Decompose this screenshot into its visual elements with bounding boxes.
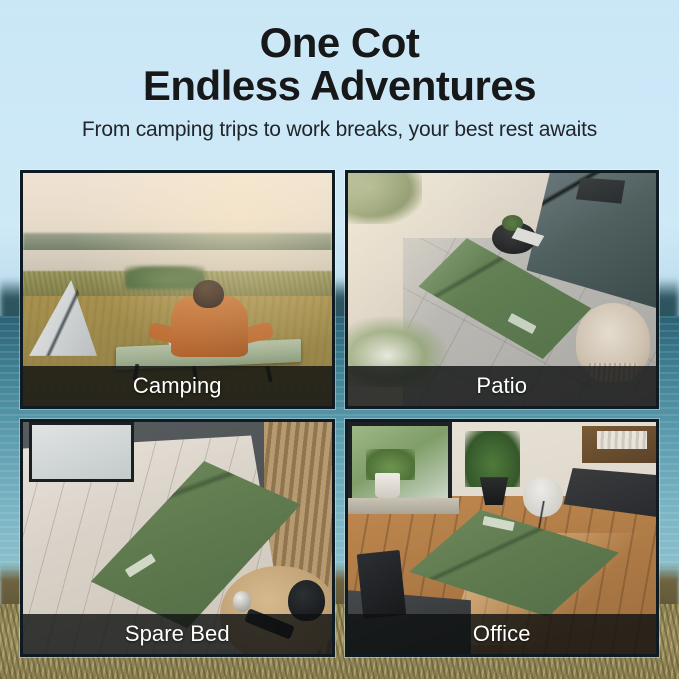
headline-line-2: Endless Adventures bbox=[143, 65, 536, 106]
spare-bed-sliding-door bbox=[29, 422, 134, 482]
page-headline: One Cot Endless Adventures bbox=[143, 22, 536, 106]
use-case-tile-office[interactable]: Office bbox=[345, 419, 660, 658]
page-subheadline: From camping trips to work breaks, your … bbox=[82, 118, 597, 142]
header: One Cot Endless Adventures From camping … bbox=[0, 0, 679, 165]
tile-caption-office: Office bbox=[348, 614, 657, 654]
office-window-pot bbox=[375, 473, 400, 499]
office-monitor bbox=[357, 550, 407, 619]
tile-caption-patio: Patio bbox=[348, 366, 657, 406]
office-books bbox=[597, 431, 646, 450]
office-window-sill bbox=[348, 498, 459, 514]
use-case-grid: Camping Patio bbox=[20, 170, 659, 657]
office-stool-legs bbox=[526, 501, 560, 529]
tile-caption-spare-bed: Spare Bed bbox=[23, 614, 332, 654]
use-case-tile-patio[interactable]: Patio bbox=[345, 170, 660, 409]
use-case-tile-spare-bed[interactable]: Spare Bed bbox=[20, 419, 335, 658]
tile-caption-camping: Camping bbox=[23, 366, 332, 406]
headline-line-1: One Cot bbox=[260, 19, 420, 66]
use-case-tile-camping[interactable]: Camping bbox=[20, 170, 335, 409]
